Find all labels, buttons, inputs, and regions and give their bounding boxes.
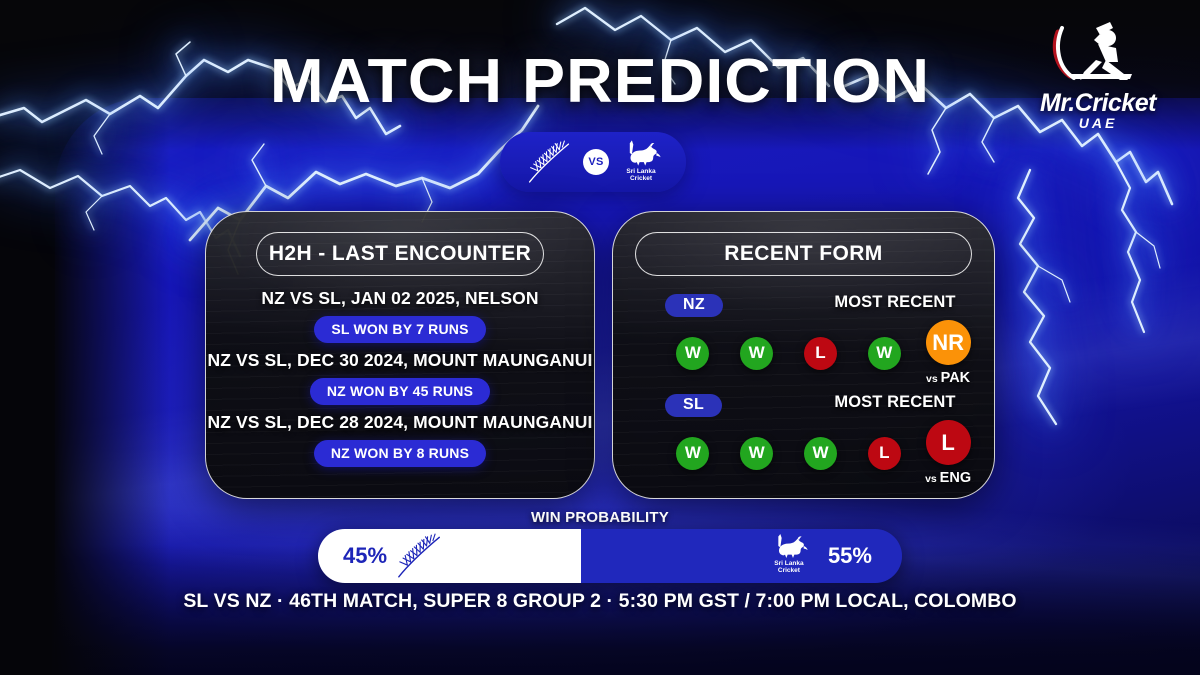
h2h-match-row: NZ VS SL, DEC 28 2024, MOUNT MAUNGANUI N… <box>206 412 594 467</box>
new-zealand-silver-fern-icon <box>522 139 574 185</box>
form-slot: W <box>661 437 725 470</box>
recent-form-team-sl: SL MOST RECENT W W W L L <box>613 394 994 494</box>
form-slot-most-recent: NR vs PAK <box>916 320 980 386</box>
recent-form-panel: RECENT FORM NZ MOST RECENT W W L W <box>612 211 995 499</box>
team-tag-nz: NZ <box>665 294 723 317</box>
form-ball: W <box>676 337 709 370</box>
sl-logo-caption: Sri LankaCricket <box>774 561 803 575</box>
win-probability-right-segment: Sri LankaCricket 55% <box>581 529 902 583</box>
form-ball-latest: L <box>926 420 971 465</box>
h2h-panel: H2H - LAST ENCOUNTER NZ VS SL, JAN 02 20… <box>205 211 595 499</box>
recent-form-list: NZ MOST RECENT W W L W N <box>613 294 994 494</box>
match-info-footer: SL VS NZ · 46TH MATCH, SUPER 8 GROUP 2 ·… <box>0 590 1200 613</box>
form-slot: W <box>789 437 853 470</box>
h2h-result-badge: SL WON BY 7 RUNS <box>314 316 485 343</box>
win-probability-left-percent: 45% <box>343 543 387 569</box>
most-recent-label-nz: MOST RECENT <box>815 293 975 312</box>
form-ball: L <box>804 337 837 370</box>
h2h-fixture: NZ VS SL, DEC 28 2024, MOUNT MAUNGANUI <box>206 412 594 433</box>
h2h-match-row: NZ VS SL, DEC 30 2024, MOUNT MAUNGANUI N… <box>206 350 594 405</box>
brand-logo: Mr.Cricket UAE <box>1018 18 1178 131</box>
h2h-result-badge: NZ WON BY 45 RUNS <box>310 378 490 405</box>
matchup-flag-bar: VS Sri LankaCricket <box>500 132 686 192</box>
win-probability-left-segment: 45% <box>318 529 581 583</box>
form-slot: W <box>661 337 725 370</box>
form-ball-latest: NR <box>926 320 971 365</box>
form-ball: L <box>868 437 901 470</box>
form-slot: W <box>725 437 789 470</box>
latest-opponent-sl: vs ENG <box>925 470 971 486</box>
recent-form-team-nz: NZ MOST RECENT W W L W N <box>613 294 994 394</box>
batsman-logo-icon <box>1040 18 1156 84</box>
form-ball: W <box>740 337 773 370</box>
form-ball: W <box>868 337 901 370</box>
h2h-match-row: NZ VS SL, JAN 02 2025, NELSON SL WON BY … <box>206 288 594 343</box>
team-tag-sl: SL <box>665 394 722 417</box>
win-probability-label: WIN PROBABILITY <box>0 509 1200 526</box>
h2h-result-badge: NZ WON BY 8 RUNS <box>314 440 486 467</box>
form-ball: W <box>740 437 773 470</box>
h2h-match-list: NZ VS SL, JAN 02 2025, NELSON SL WON BY … <box>206 288 594 474</box>
poster-canvas: MATCH PREDICTION VS <box>0 0 1200 675</box>
h2h-fixture: NZ VS SL, DEC 30 2024, MOUNT MAUNGANUI <box>206 350 594 371</box>
latest-opponent-nz: vs PAK <box>926 370 970 386</box>
form-streak-nz: W W L W NR vs PAK <box>661 320 980 386</box>
form-streak-sl: W W W L L vs ENG <box>661 420 980 486</box>
new-zealand-silver-fern-icon <box>391 532 445 580</box>
win-probability-bar: 45% <box>318 529 902 583</box>
versus-badge: VS <box>583 149 609 175</box>
sri-lanka-cricket-lion-icon: Sri LankaCricket <box>766 532 812 580</box>
win-probability-right-percent: 55% <box>828 543 872 569</box>
sl-logo-caption: Sri LankaCricket <box>626 169 655 183</box>
recent-form-heading: RECENT FORM <box>635 232 972 276</box>
form-ball: W <box>676 437 709 470</box>
h2h-fixture: NZ VS SL, JAN 02 2025, NELSON <box>206 288 594 309</box>
sri-lanka-cricket-lion-icon: Sri LankaCricket <box>618 138 664 186</box>
form-slot: L <box>852 437 916 470</box>
brand-name: Mr.Cricket <box>1018 89 1178 118</box>
form-slot: W <box>852 337 916 370</box>
form-slot: L <box>789 337 853 370</box>
h2h-heading: H2H - LAST ENCOUNTER <box>256 232 544 276</box>
form-slot-most-recent: L vs ENG <box>916 420 980 486</box>
form-ball: W <box>804 437 837 470</box>
most-recent-label-sl: MOST RECENT <box>815 393 975 412</box>
form-slot: W <box>725 337 789 370</box>
